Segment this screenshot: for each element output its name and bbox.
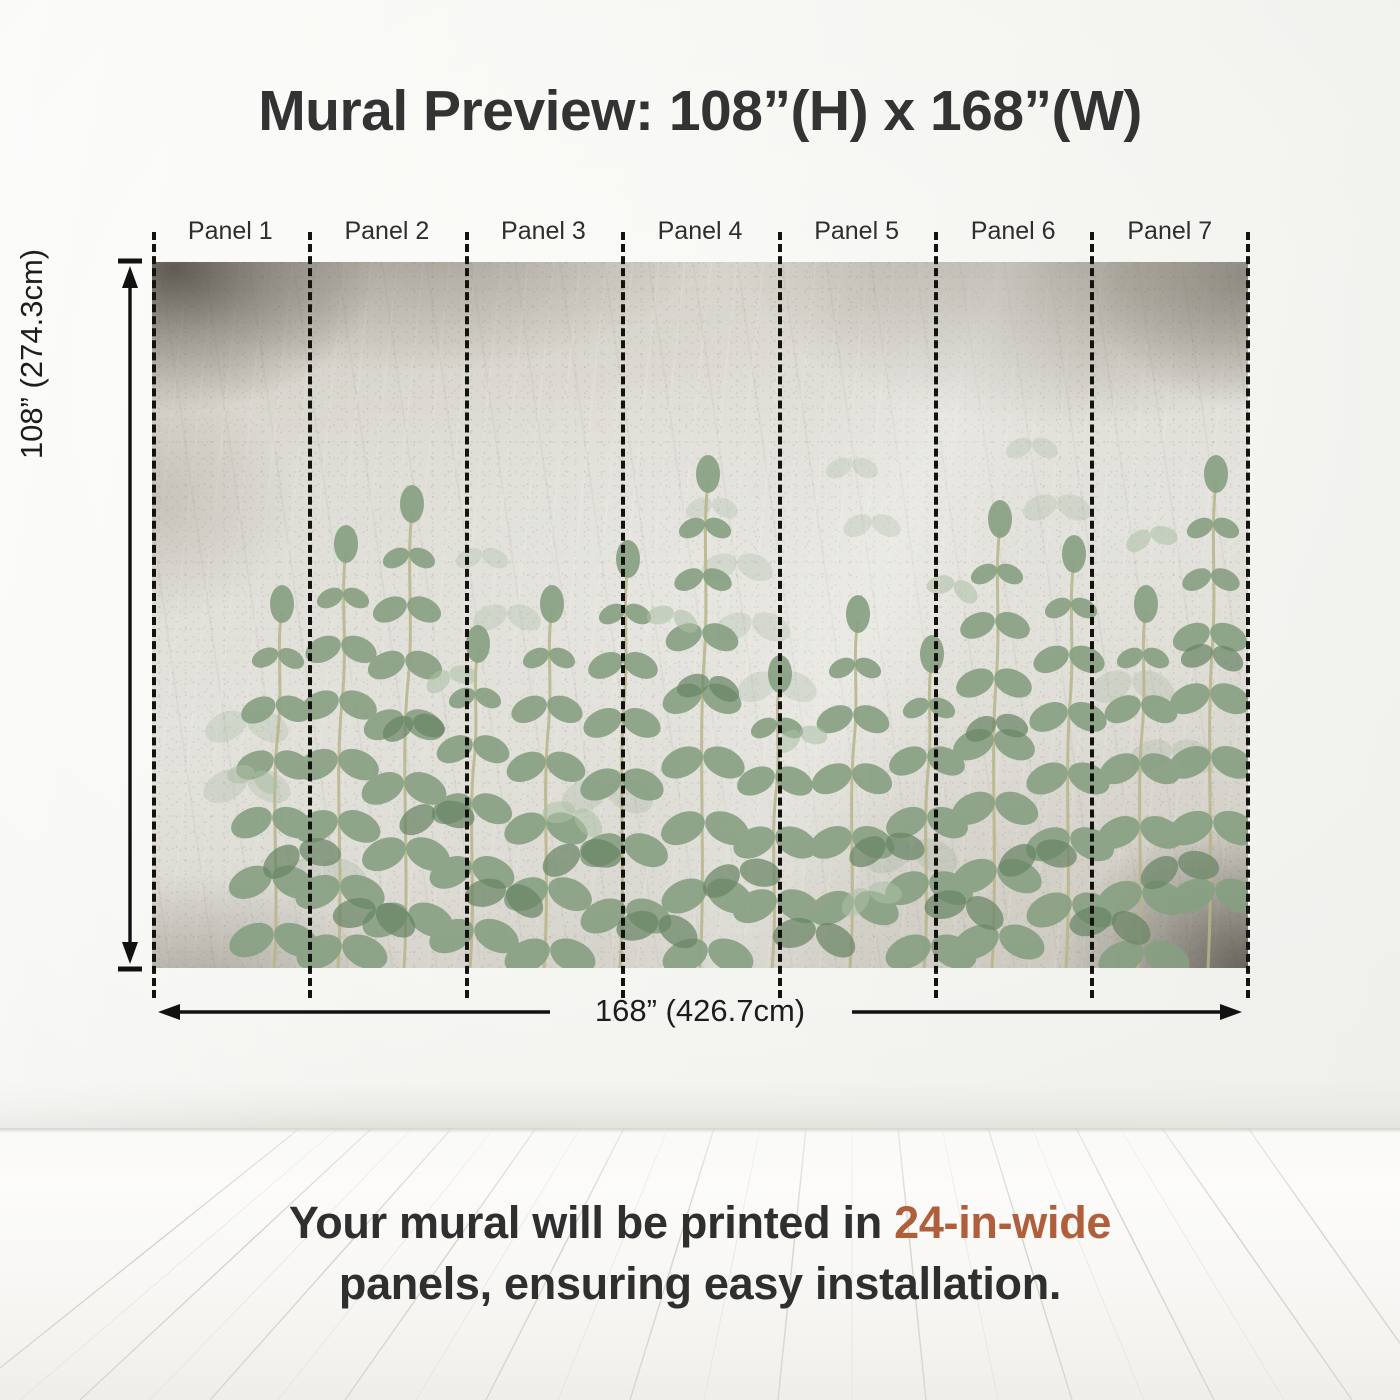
eucalyptus-vine-illustration bbox=[152, 262, 1248, 968]
mural-artwork-preview bbox=[152, 262, 1248, 968]
footer-caption: Your mural will be printed in 24-in-wide… bbox=[0, 1192, 1400, 1314]
panel-label-5: Panel 5 bbox=[778, 213, 935, 249]
panel-divider-1 bbox=[308, 232, 312, 998]
panel-label-3: Panel 3 bbox=[465, 213, 622, 249]
wall-bottom-shadow bbox=[0, 1082, 1400, 1128]
panel-label-2: Panel 2 bbox=[309, 213, 466, 249]
caption-line-1: Your mural will be printed in 24-in-wide bbox=[0, 1192, 1400, 1253]
panel-label-1: Panel 1 bbox=[152, 213, 309, 249]
floor-top-edge bbox=[0, 1128, 1400, 1133]
mural-right-edge-line bbox=[1246, 232, 1250, 998]
panel-label-row: Panel 1 Panel 2 Panel 3 Panel 4 Panel 5 … bbox=[152, 213, 1248, 249]
panel-divider-5 bbox=[934, 232, 938, 998]
panel-divider-4 bbox=[778, 232, 782, 998]
panel-divider-3 bbox=[621, 232, 625, 998]
panel-label-7: Panel 7 bbox=[1091, 213, 1248, 249]
width-dimension-label: 168” (426.7cm) bbox=[0, 994, 1400, 1028]
caption-accent-text: 24-in-wide bbox=[894, 1197, 1111, 1248]
page-title: Mural Preview: 108”(H) x 168”(W) bbox=[0, 78, 1400, 144]
caption-line-1-prefix: Your mural will be printed in bbox=[289, 1197, 894, 1248]
height-dimension-label: 108” (274.3cm) bbox=[14, 74, 50, 634]
caption-line-2: panels, ensuring easy installation. bbox=[0, 1253, 1400, 1314]
panel-divider-6 bbox=[1090, 232, 1094, 998]
panel-label-4: Panel 4 bbox=[622, 213, 779, 249]
height-dimension-arrow bbox=[112, 258, 146, 972]
panel-divider-2 bbox=[465, 232, 469, 998]
panel-label-6: Panel 6 bbox=[935, 213, 1092, 249]
mural-left-edge-line bbox=[152, 232, 156, 998]
